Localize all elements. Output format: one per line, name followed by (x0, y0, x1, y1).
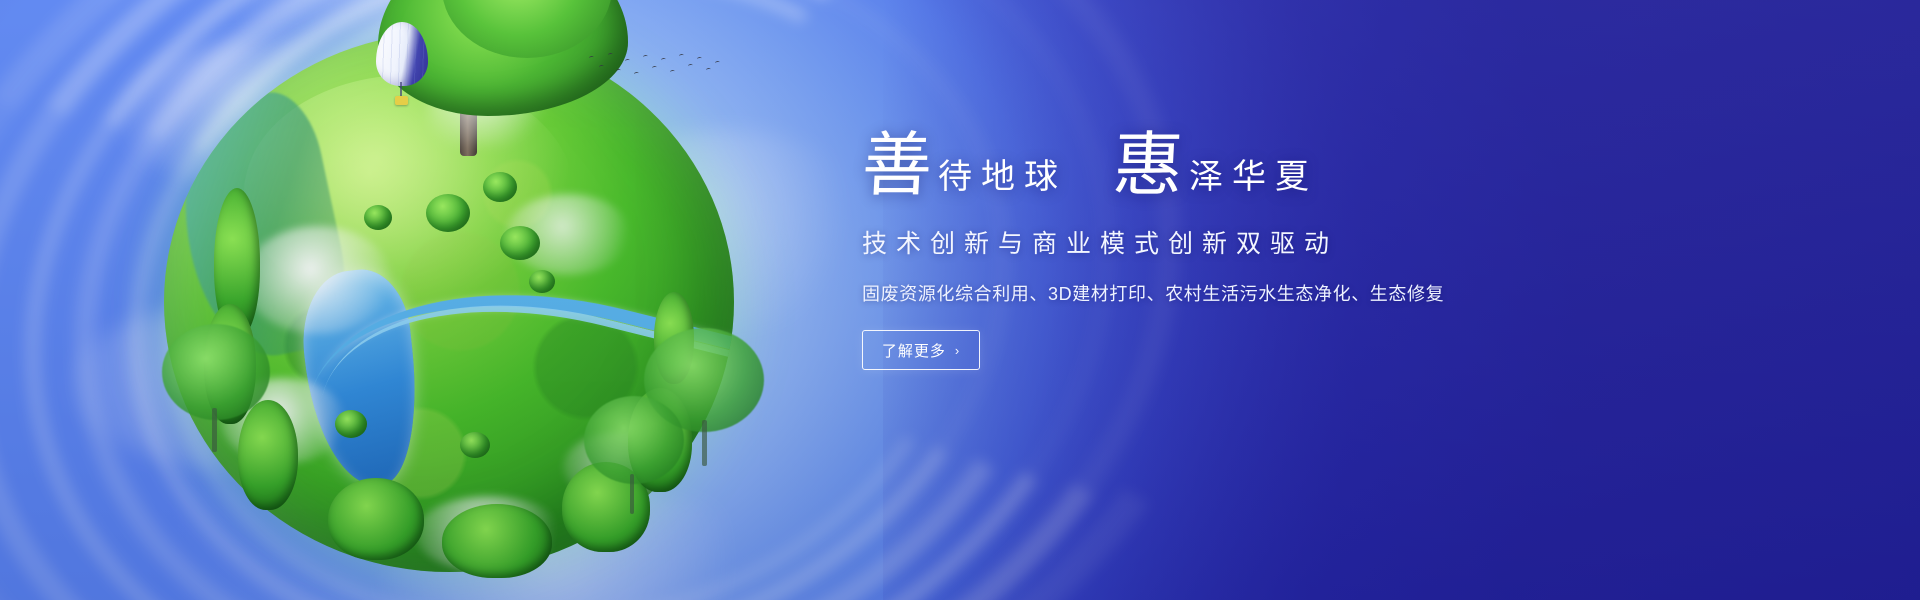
learn-more-button[interactable]: 了解更多 › (862, 330, 980, 370)
banner-description: 固废资源化综合利用、3D建材打印、农村生活污水生态净化、生态修复 (862, 280, 1622, 306)
headline-small-1: 待地球 (938, 160, 1067, 202)
chevron-right-icon: › (955, 343, 960, 358)
learn-more-label: 了解更多 (882, 340, 946, 361)
banner-copy: 善 待地球 惠 泽华夏 技术创新与商业模式创新双驱动 固废资源化综合利用、3D建… (862, 118, 1622, 370)
hero-banner: 善 待地球 惠 泽华夏 技术创新与商业模式创新双驱动 固废资源化综合利用、3D建… (0, 0, 1920, 600)
headline-big-2: 惠 (1111, 132, 1191, 202)
page-title: 善 待地球 惠 泽华夏 (862, 118, 1622, 202)
headline-small-2: 泽华夏 (1189, 160, 1318, 202)
headline-big-1: 善 (860, 132, 940, 202)
banner-subtitle: 技术创新与商业模式创新双驱动 (862, 224, 1622, 260)
